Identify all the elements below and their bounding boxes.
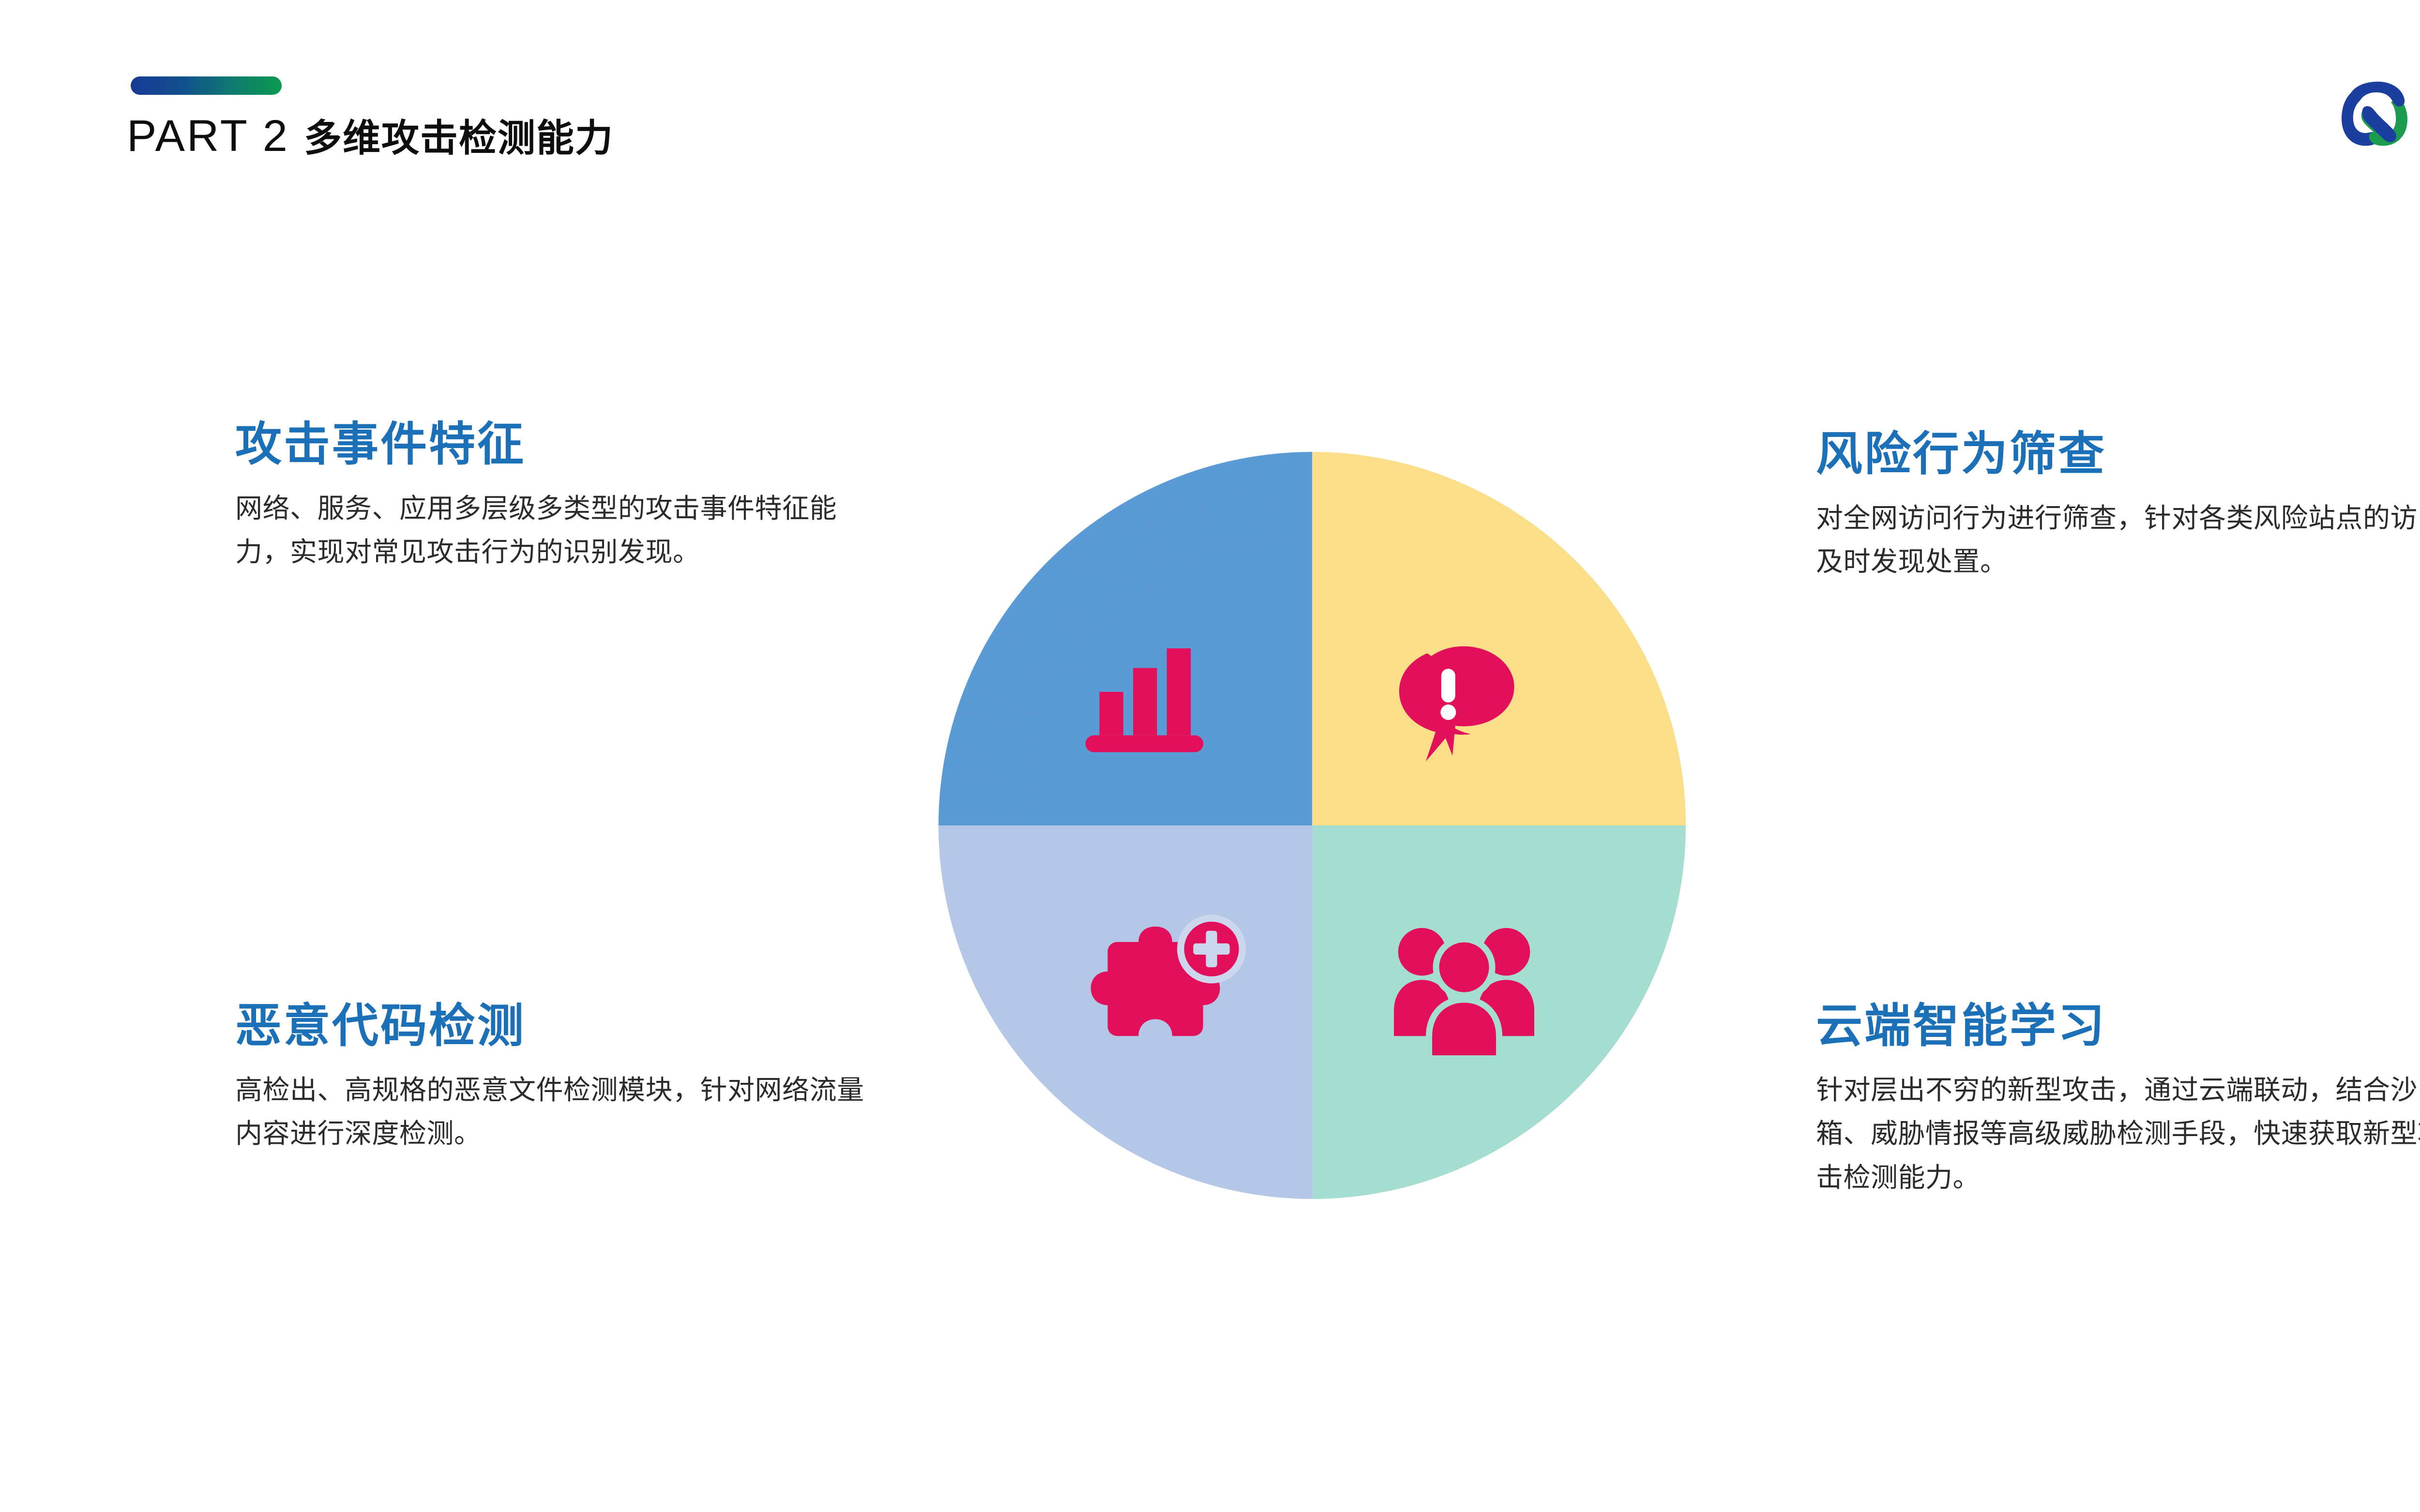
feature-block-malicious-code: 恶意代码检测 高检出、高规格的恶意文件检测模块，针对网络流量内容进行深度检测。 <box>235 1001 869 1156</box>
page-title: PART 2多维攻击检测能力 <box>127 114 614 158</box>
feature-block-attack-event: 攻击事件特征 网络、服务、应用多层级多类型的攻击事件特征能力，实现对常见攻击行为… <box>235 419 869 574</box>
feature-title-cloud-learning: 云端智能学习 <box>1816 1001 2420 1052</box>
gear-graphic <box>866 380 1758 1271</box>
feature-title-risk-behavior: 风险行为筛查 <box>1816 429 2420 480</box>
brand-logo: 数信安全 ID SEC <box>2333 73 2420 155</box>
feature-title-malicious-code: 恶意代码检测 <box>235 1001 869 1052</box>
four-quadrant-gear-diagram <box>866 380 1758 1271</box>
feature-block-cloud-learning: 云端智能学习 针对层出不穷的新型攻击，通过云端联动，结合沙箱、威胁情报等高级威胁… <box>1816 1001 2420 1200</box>
feature-body-cloud-learning: 针对层出不穷的新型攻击，通过云端联动，结合沙箱、威胁情报等高级威胁检测手段，快速… <box>1816 1068 2420 1200</box>
page-title-part-label: PART 2 <box>127 111 289 161</box>
feature-body-risk-behavior: 对全网访问行为进行筛查，针对各类风险站点的访问及时发现处置。 <box>1816 496 2420 584</box>
feature-body-malicious-code: 高检出、高规格的恶意文件检测模块，针对网络流量内容进行深度检测。 <box>235 1068 869 1156</box>
page-title-subject: 多维攻击检测能力 <box>304 117 614 159</box>
idsec-shield-logo-icon <box>2333 73 2416 155</box>
feature-block-risk-behavior: 风险行为筛查 对全网访问行为进行筛查，针对各类风险站点的访问及时发现处置。 <box>1816 429 2420 584</box>
feature-body-attack-event: 网络、服务、应用多层级多类型的攻击事件特征能力，实现对常见攻击行为的识别发现。 <box>235 487 869 574</box>
feature-title-attack-event: 攻击事件特征 <box>235 419 869 470</box>
title-accent-bar <box>131 76 282 95</box>
